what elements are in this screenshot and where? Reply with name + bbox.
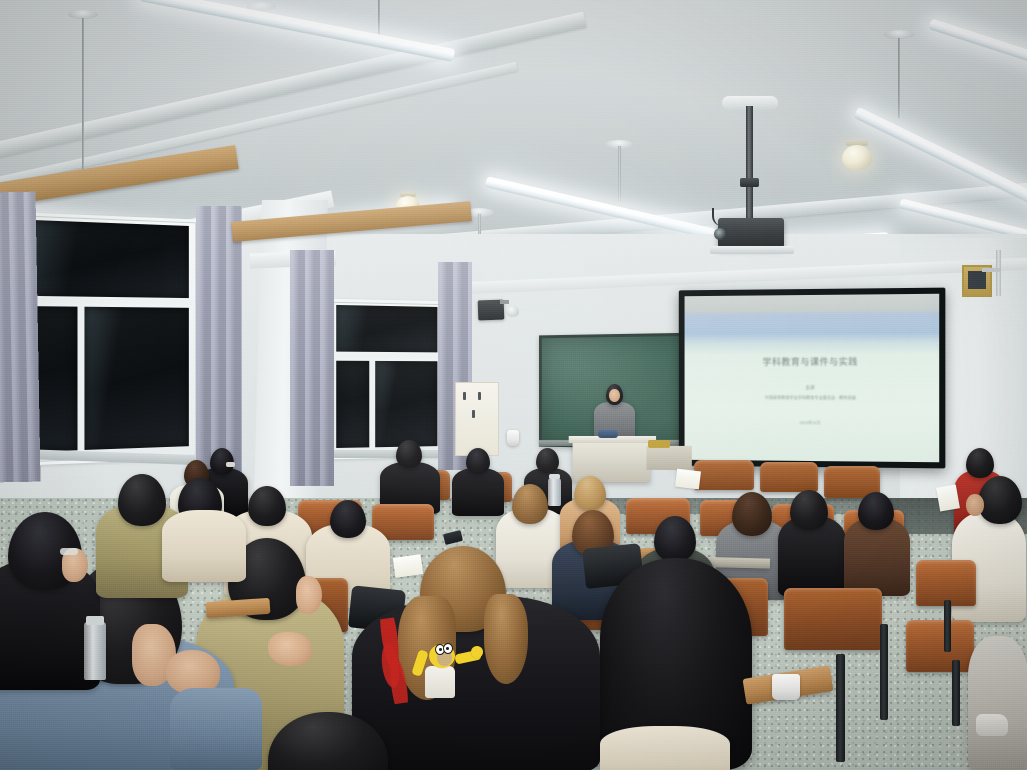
projector-mount-tray bbox=[710, 246, 794, 254]
student-head bbox=[118, 474, 166, 526]
student-head bbox=[536, 448, 559, 473]
window-mullion bbox=[333, 354, 440, 359]
slide-title: 学科教育与课件与实践 bbox=[685, 354, 940, 368]
student-lower-body bbox=[968, 636, 1027, 770]
water-bottle bbox=[548, 478, 561, 506]
student-torso bbox=[600, 726, 730, 770]
student-torso bbox=[162, 510, 246, 582]
student-head bbox=[466, 448, 490, 474]
student-face bbox=[966, 494, 984, 516]
notebook-paper bbox=[393, 554, 424, 578]
student-head bbox=[512, 484, 548, 524]
student-head bbox=[858, 492, 894, 530]
notebook-paper bbox=[936, 484, 960, 511]
projection-screen: 学科教育与课件与实践 主讲 中国高等教育学会学科教育专业委员会 · 教师发展 2… bbox=[679, 288, 946, 469]
wall-hook bbox=[463, 392, 466, 400]
bottle-cap bbox=[86, 616, 104, 625]
lecturer-head bbox=[606, 384, 623, 405]
projection-screen-surface: 学科教育与课件与实践 主讲 中国高等教育学会学科教育专业委员会 · 教师发展 2… bbox=[685, 294, 940, 463]
wall-hook bbox=[478, 392, 481, 400]
student-head bbox=[966, 448, 994, 478]
seat-back[interactable] bbox=[784, 588, 882, 650]
wall-panel-board bbox=[455, 382, 499, 456]
student-head bbox=[248, 486, 286, 526]
ceiling-projector bbox=[718, 218, 784, 248]
light-hanging-rod bbox=[618, 146, 621, 202]
eyeglasses-icon bbox=[60, 548, 78, 555]
homer-shirt bbox=[425, 666, 455, 698]
student-head bbox=[396, 440, 422, 468]
seat-leg bbox=[944, 600, 951, 652]
seat-leg bbox=[880, 624, 888, 720]
homer-pupil bbox=[446, 647, 449, 650]
student-head bbox=[978, 476, 1022, 524]
student-head bbox=[654, 516, 696, 562]
wall-conduit-elbow bbox=[982, 268, 1000, 272]
seat-back[interactable] bbox=[760, 462, 818, 492]
curtain-between-windows bbox=[196, 206, 242, 488]
seat-back[interactable] bbox=[906, 620, 974, 672]
surveillance-camera bbox=[506, 306, 519, 317]
window-pane-left bbox=[336, 361, 369, 448]
student-head bbox=[574, 476, 606, 510]
sneaker-shoe bbox=[976, 714, 1008, 736]
slide-affiliation-line-1: 中国高等教育学会学科教育专业委员会 · 教师发展 bbox=[685, 395, 940, 402]
paper-cup bbox=[772, 674, 800, 700]
slide-date: 2023年11月 bbox=[685, 419, 940, 426]
curtain-left-edge bbox=[0, 192, 41, 483]
window-mullion bbox=[79, 305, 84, 453]
homer-simpson-graphic bbox=[415, 630, 487, 704]
window-pane-upper bbox=[336, 305, 437, 352]
pendant-globe-lamp-right bbox=[842, 145, 872, 170]
wall-conduit-pipe bbox=[996, 250, 1001, 296]
homer-hand bbox=[471, 646, 483, 658]
camera-mount-arm bbox=[500, 300, 509, 304]
eyeglasses-icon bbox=[226, 462, 235, 467]
student-hand bbox=[268, 632, 312, 666]
window-left-1 bbox=[18, 212, 199, 466]
seat-leg bbox=[952, 660, 960, 726]
curtain-mid bbox=[290, 250, 334, 486]
light-hanging-cable bbox=[898, 38, 900, 118]
homer-pupil bbox=[439, 648, 442, 651]
projector-lens-icon bbox=[714, 228, 726, 240]
yellow-folder bbox=[648, 440, 670, 448]
window-pane-upper bbox=[25, 220, 189, 298]
student-head bbox=[732, 492, 772, 536]
window-mullion bbox=[370, 359, 374, 449]
projector-mount-pole bbox=[746, 106, 753, 218]
student-torso bbox=[452, 468, 504, 516]
window-pane-right bbox=[375, 361, 437, 447]
slide-subtitle: 主讲 bbox=[685, 385, 940, 391]
notebook-paper bbox=[675, 469, 701, 490]
light-hanging-cable bbox=[82, 18, 84, 178]
podium-laptop bbox=[598, 430, 618, 438]
homer-eye-right bbox=[443, 643, 453, 654]
wall-hook bbox=[472, 410, 475, 418]
paper-cup bbox=[507, 430, 519, 446]
lecture-hall-photo: 学科教育与课件与实践 主讲 中国高等教育学会学科教育专业委员会 · 教师发展 2… bbox=[0, 0, 1027, 770]
projector-pole-collar bbox=[740, 178, 759, 187]
window-pane-right bbox=[84, 307, 188, 450]
window-mullion bbox=[21, 298, 193, 305]
hair-strand bbox=[484, 594, 528, 684]
blue-hoodie-sleeve bbox=[170, 688, 262, 770]
seat-leg bbox=[836, 654, 845, 762]
student-head bbox=[790, 490, 828, 530]
water-bottle bbox=[84, 622, 106, 680]
window-sill-2 bbox=[326, 450, 446, 458]
student-ear-and-cheek bbox=[296, 576, 322, 614]
lecturer-face bbox=[609, 389, 620, 402]
podium bbox=[573, 440, 650, 482]
seat-back[interactable] bbox=[694, 460, 754, 490]
side-table bbox=[647, 446, 692, 470]
bottle-cap bbox=[549, 474, 560, 479]
control-box-face bbox=[968, 271, 986, 289]
window-left-2 bbox=[330, 299, 446, 460]
student-head bbox=[330, 500, 366, 538]
